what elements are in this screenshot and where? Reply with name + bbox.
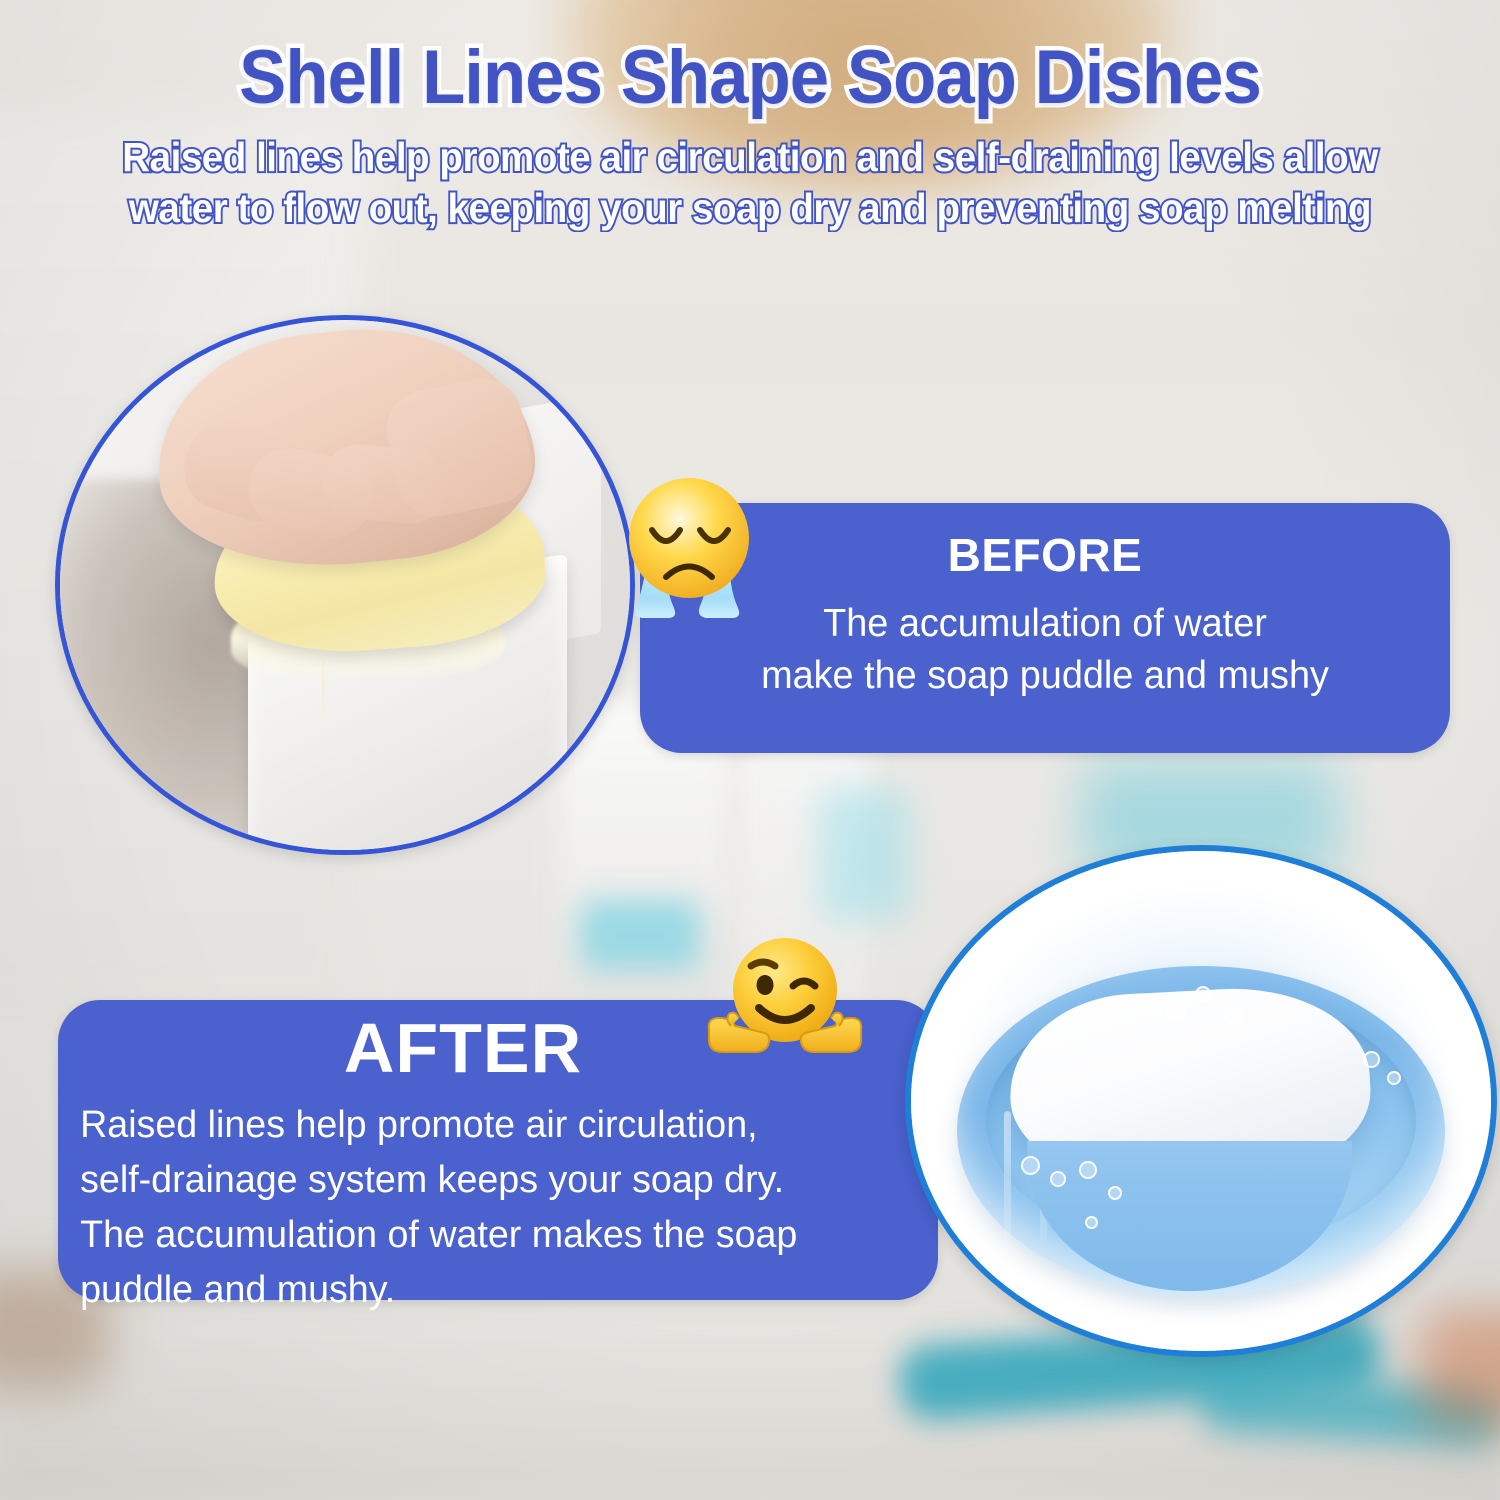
subtitle-line-1: Raised lines help promote air circulatio… bbox=[45, 132, 1455, 183]
before-heading: BEFORE bbox=[640, 528, 1450, 582]
before-description-line-2: make the soap puddle and mushy bbox=[652, 650, 1438, 702]
before-photo-circle bbox=[55, 315, 635, 855]
after-description-line-3: The accumulation of water makes the soap bbox=[80, 1208, 892, 1263]
header: Shell Lines Shape Soap Dishes Raised lin… bbox=[0, 0, 1500, 234]
page-subtitle: Raised lines help promote air circulatio… bbox=[45, 132, 1455, 234]
after-photo-bubble bbox=[1387, 1071, 1401, 1085]
before-description-line-1: The accumulation of water bbox=[652, 598, 1438, 650]
after-photo-bubble bbox=[1085, 1216, 1098, 1229]
after-description-line-2: self-drainage system keeps your soap dry… bbox=[80, 1153, 892, 1208]
subtitle-line-2: water to flow out, keeping your soap dry… bbox=[45, 183, 1455, 234]
before-photo-content bbox=[60, 320, 630, 850]
winking-face-with-pointing-hands-icon bbox=[705, 930, 865, 1078]
page-title: Shell Lines Shape Soap Dishes bbox=[53, 40, 1448, 116]
product-infographic: Shell Lines Shape Soap Dishes Raised lin… bbox=[0, 0, 1500, 1500]
after-photo-circle bbox=[905, 845, 1497, 1357]
before-description: The accumulation of water make the soap … bbox=[652, 598, 1438, 703]
after-description: Raised lines help promote air circulatio… bbox=[80, 1098, 892, 1318]
after-description-line-1: Raised lines help promote air circulatio… bbox=[80, 1098, 892, 1153]
after-description-line-4: puddle and mushy. bbox=[80, 1263, 892, 1318]
